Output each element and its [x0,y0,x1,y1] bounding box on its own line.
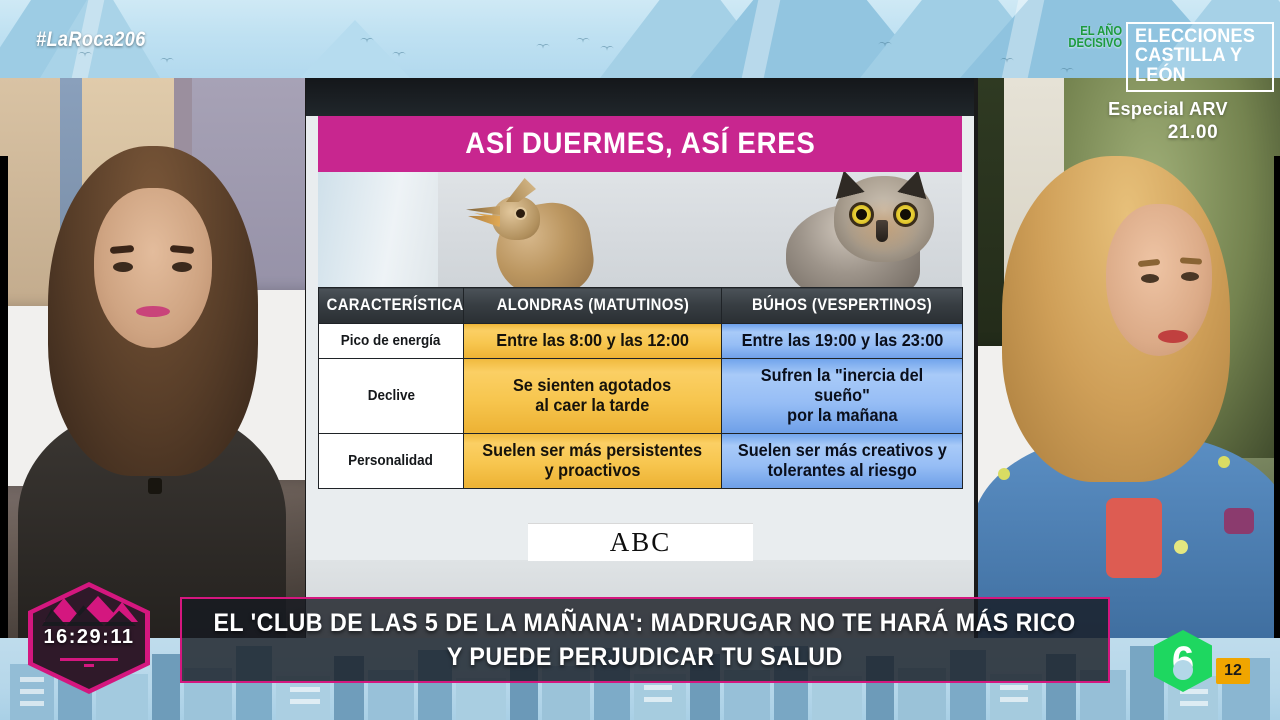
table-row: Pico de energía Entre las 8:00 y las 12:… [319,324,963,359]
bird-photo-area [318,172,962,290]
row-owl-value: Entre las 19:00 y las 23:00 [722,324,963,359]
flying-bird-icon [536,44,550,51]
promo-time: 21.00 [1062,122,1274,144]
card-top-bar [306,78,974,116]
promo-box: ELECCIONES CASTILLA Y LEÓN [1126,22,1274,92]
table-header-row: CARACTERÍSTICA ALONDRAS (MATUTINOS) BÚHO… [319,288,963,324]
broadcast-screen: #LaRoca206 EL AÑO DECISIVO ELECCIONES CA… [0,0,1280,720]
guest-right-panel [978,78,1280,638]
news-ticker-banner: EL 'CLUB DE LAS 5 DE LA MAÑANA': MADRUGA… [180,597,1110,683]
table-header-feature: CARACTERÍSTICA [319,288,464,324]
flying-bird-icon [392,52,406,59]
graphic-title: ASÍ DUERMES, ASÍ ERES [465,127,815,161]
mountain-shape [300,20,410,78]
photo-backdrop [318,172,438,290]
clock-time: 16:29:11 [28,626,150,649]
row-owl-value: Sufren la "inercia del sueño" por la mañ… [722,358,963,433]
row-feature-label: Personalidad [319,433,464,488]
row-feature-label: Declive [319,358,464,433]
presenter-left-panel [0,78,305,638]
table-header-larks: ALONDRAS (MATUTINOS) [464,288,722,324]
video-area: ASÍ DUERMES, ASÍ ERES [0,78,1280,638]
abc-logo: ABC [610,527,672,558]
letterbox-left [0,156,8,716]
row-lark-value: Suelen ser más persistentes y proactivos [464,433,722,488]
source-logo-bar: ABC [528,523,753,561]
table-row: Declive Se sienten agotados al caer la t… [319,358,963,433]
row-feature-label: Pico de energía [319,324,464,359]
age-rating-value: 12 [1224,662,1242,680]
flying-bird-icon [600,46,614,53]
hexagon-accent-bar [60,658,118,661]
promo-box-line1: ELECCIONES [1135,27,1259,46]
hashtag-overlay: #LaRoca206 [36,28,146,52]
channel-logo: 6 12 [1154,630,1262,692]
flying-bird-icon [160,58,174,65]
comparison-table-wrapper: CARACTERÍSTICA ALONDRAS (MATUTINOS) BÚHO… [318,287,962,489]
hexagon-accent-dots [84,664,94,667]
row-owl-value: Suelen ser más creativos y tolerantes al… [722,433,963,488]
age-rating-badge: 12 [1216,658,1250,684]
row-lark-value: Entre las 8:00 y las 12:00 [464,324,722,359]
clock-widget: 16:29:11 [28,582,150,694]
flying-bird-icon [1000,58,1014,65]
flying-bird-icon [576,38,590,45]
ticker-line-2: Y PUEDE PERJUDICAR TU SALUD [447,643,843,672]
comparison-table: CARACTERÍSTICA ALONDRAS (MATUTINOS) BÚHO… [318,287,963,489]
owl-bird-icon [786,176,936,290]
flying-bird-icon [78,52,92,59]
promo-box-line2: CASTILLA Y LEÓN [1135,46,1259,85]
election-promo: EL AÑO DECISIVO ELECCIONES CASTILLA Y LE… [1062,22,1274,144]
flying-bird-icon [878,42,892,49]
flying-bird-icon [360,38,374,45]
six-inner-hole [1173,660,1193,680]
ticker-line-1: EL 'CLUB DE LAS 5 DE LA MAÑANA': MADRUGA… [214,609,1076,638]
letterbox-right [1274,156,1280,716]
graphic-title-bar: ASÍ DUERMES, ASÍ ERES [318,116,962,172]
row-lark-value: Se sienten agotados al caer la tarde [464,358,722,433]
infographic-card: ASÍ DUERMES, ASÍ ERES [306,78,974,638]
promo-tagline-line2: DECISIVO [1068,37,1122,49]
lark-bird-icon [468,180,598,290]
promo-tagline: EL AÑO DECISIVO [1068,22,1125,92]
table-header-owls: BÚHOS (VESPERTINOS) [722,288,963,324]
table-row: Personalidad Suelen ser más persistentes… [319,433,963,488]
promo-subtitle: Especial ARV [1062,99,1274,120]
